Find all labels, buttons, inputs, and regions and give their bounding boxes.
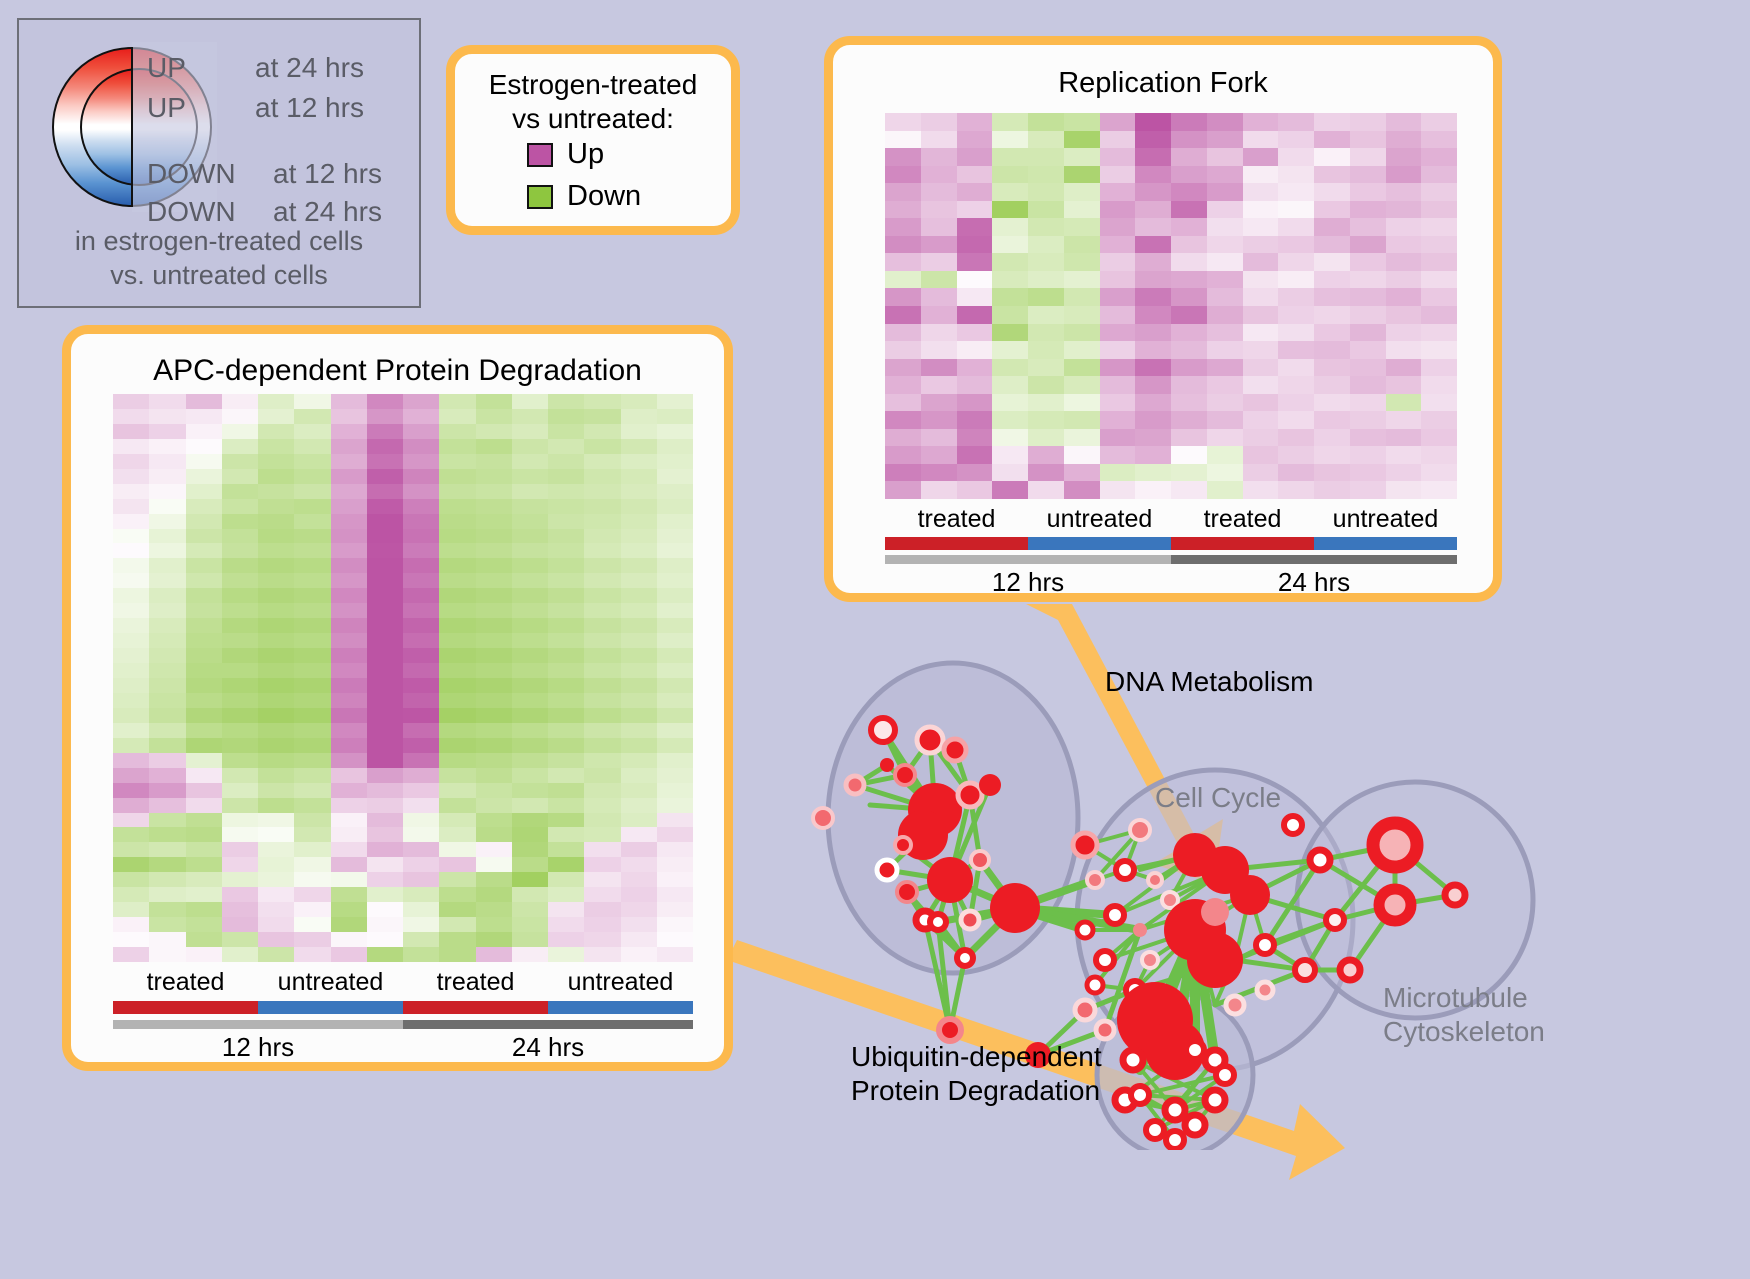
group-color-segment (258, 1001, 403, 1014)
heatmap-cell (113, 947, 149, 962)
heatmap-cell (476, 439, 512, 454)
heatmap-cell (1028, 218, 1064, 236)
heatmap-cell (149, 484, 185, 499)
heatmap-cell (476, 902, 512, 917)
heatmap-cell (1028, 201, 1064, 219)
heatmap-cell (476, 768, 512, 783)
heatmap-cell (1135, 148, 1171, 166)
heatmap-cell (476, 514, 512, 529)
heatmap-cell (1135, 218, 1171, 236)
heatmap-cell (403, 887, 439, 902)
heatmap-cell (258, 424, 294, 439)
heatmap-cell (113, 753, 149, 768)
heatmap-cell (957, 271, 993, 289)
heatmap-cell (657, 499, 693, 514)
heatmap-cell (222, 827, 258, 842)
heatmap-cell (149, 947, 185, 962)
heatmap-cell (957, 306, 993, 324)
heatmap-cell (584, 798, 620, 813)
heatmap-cell (584, 902, 620, 917)
heatmap-cell (657, 872, 693, 887)
heatmap-cell (1350, 359, 1386, 377)
heatmap-cell (621, 394, 657, 409)
heatmap-cell (439, 573, 475, 588)
heatmap-cell (584, 439, 620, 454)
heatmap-cell (1243, 253, 1279, 271)
heatmap-cell (186, 783, 222, 798)
heatmap-cell (512, 827, 548, 842)
heatmap-cell (1314, 429, 1350, 447)
heatmap-cell (1135, 324, 1171, 342)
heatmap-cell (222, 947, 258, 962)
heatmap-cell (113, 902, 149, 917)
heatmap-cell (1207, 253, 1243, 271)
heatmap-cell (113, 484, 149, 499)
heatmap-cell (1314, 376, 1350, 394)
cluster-label-ubiquitin-protein-degradation: Ubiquitin-dependent Protein Degradation (851, 1040, 1102, 1107)
heatmap-cell (885, 324, 921, 342)
heatmap-cell (476, 917, 512, 932)
heatmap-cell (621, 633, 657, 648)
heatmap-cell (331, 633, 367, 648)
heatmap-cell (1278, 201, 1314, 219)
heatmap-cell (1064, 411, 1100, 429)
heatmap-cell (476, 573, 512, 588)
heatmap-cell (186, 798, 222, 813)
heatmap-cell (403, 588, 439, 603)
heatmap-cell (992, 429, 1028, 447)
heatmap-cell (331, 499, 367, 514)
heatmap-cell (1171, 183, 1207, 201)
heatmap-cell (621, 798, 657, 813)
heatmap-cell (1386, 306, 1422, 324)
heatmap-cell (149, 857, 185, 872)
heatmap-cell (367, 543, 403, 558)
rf-group-colorbar (885, 537, 1457, 550)
heatmap-cell (113, 872, 149, 887)
heatmap-cell (294, 588, 330, 603)
heatmap-cell (548, 514, 584, 529)
heatmap-cell (476, 529, 512, 544)
heatmap-cell (331, 409, 367, 424)
heatmap-cell (1314, 253, 1350, 271)
heatmap-cell (1421, 376, 1457, 394)
heatmap-cell (367, 573, 403, 588)
colorbar-row-time-0: at 24 hrs (255, 52, 364, 84)
colorbar-row-label-3: DOWN (147, 196, 236, 228)
heatmap-cell (1064, 306, 1100, 324)
heatmap-cell (1135, 464, 1171, 482)
heatmap-cell (113, 394, 149, 409)
heatmap-cell (1064, 166, 1100, 184)
heatmap-cell (367, 603, 403, 618)
heatmap-cell (512, 454, 548, 469)
heatmap-cell (512, 902, 548, 917)
heatmap-cell (657, 887, 693, 902)
heatmap-cell (113, 663, 149, 678)
heatmap-cell (657, 439, 693, 454)
heatmap-cell (584, 633, 620, 648)
heatmap-cell (113, 424, 149, 439)
heatmap-cell (1207, 148, 1243, 166)
heatmap-cell (331, 917, 367, 932)
heatmap-cell (1314, 148, 1350, 166)
heatmap-cell (1100, 166, 1136, 184)
heatmap-cell (1421, 306, 1457, 324)
rf-group-labels: treateduntreatedtreateduntreated (885, 505, 1457, 534)
heatmap-cell (1207, 464, 1243, 482)
heatmap-cell (403, 708, 439, 723)
heatmap-cell (1100, 218, 1136, 236)
heatmap-cell (1028, 429, 1064, 447)
heatmap-cell (294, 633, 330, 648)
group-color-segment (403, 1001, 548, 1014)
heatmap-cell (113, 738, 149, 753)
heatmap-cell (294, 842, 330, 857)
heatmap-cell (294, 798, 330, 813)
heatmap-cell (512, 603, 548, 618)
heatmap-cell (1207, 131, 1243, 149)
heatmap-cell (294, 917, 330, 932)
heatmap-cell (1421, 341, 1457, 359)
heatmap-cell (657, 663, 693, 678)
heatmap-cell (548, 917, 584, 932)
heatmap-cell (331, 872, 367, 887)
heatmap-cell (439, 439, 475, 454)
heatmap-cell (1314, 446, 1350, 464)
heatmap-cell (294, 618, 330, 633)
heatmap-cell (476, 394, 512, 409)
heatmap-cell (149, 723, 185, 738)
heatmap-cell (331, 768, 367, 783)
heatmap-cell (149, 678, 185, 693)
heatmap-cell (476, 603, 512, 618)
heatmap-cell (657, 454, 693, 469)
heatmap-cell (1064, 446, 1100, 464)
heatmap-cell (367, 947, 403, 962)
heatmap-cell (367, 917, 403, 932)
heatmap-cell (921, 253, 957, 271)
heatmap-cell (113, 558, 149, 573)
heatmap-cell (921, 288, 957, 306)
heatmap-cell (294, 424, 330, 439)
heatmap-cell (1100, 201, 1136, 219)
heatmap-cell (149, 768, 185, 783)
heatmap-cell (367, 618, 403, 633)
heatmap-cell (885, 429, 921, 447)
heatmap-cell (885, 306, 921, 324)
heatmap-cell (992, 183, 1028, 201)
heatmap-cell (1278, 166, 1314, 184)
apc-group-labels: treateduntreatedtreateduntreated (113, 968, 693, 997)
heatmap-cell (621, 738, 657, 753)
heatmap-cell (1421, 183, 1457, 201)
heatmap-cell (1386, 324, 1422, 342)
apc-panel: APC-dependent Protein Degradation treate… (62, 325, 733, 1071)
heatmap-cell (149, 439, 185, 454)
heatmap-cell (1314, 201, 1350, 219)
heatmap-cell (1100, 376, 1136, 394)
heatmap-cell (1171, 324, 1207, 342)
heatmap-cell (476, 872, 512, 887)
heatmap-cell (149, 618, 185, 633)
heatmap-cell (1171, 148, 1207, 166)
heatmap-cell (1064, 236, 1100, 254)
heatmap-cell (1314, 166, 1350, 184)
heatmap-cell (439, 902, 475, 917)
heatmap-cell (885, 271, 921, 289)
heatmap-cell (222, 887, 258, 902)
heatmap-cell (331, 798, 367, 813)
replication-fork-heatmap (885, 113, 1457, 499)
heatmap-cell (1386, 236, 1422, 254)
heatmap-cell (222, 917, 258, 932)
heatmap-cell (1314, 236, 1350, 254)
heatmap-cell (1028, 113, 1064, 131)
heatmap-cell (1421, 324, 1457, 342)
heatmap-cell (476, 738, 512, 753)
heatmap-cell (258, 469, 294, 484)
heatmap-cell (548, 827, 584, 842)
heatmap-cell (1314, 464, 1350, 482)
heatmap-cell (1171, 166, 1207, 184)
heatmap-cell (657, 693, 693, 708)
heatmap-cell (258, 454, 294, 469)
heatmap-cell (258, 813, 294, 828)
heatmap-cell (149, 469, 185, 484)
heatmap-cell (186, 394, 222, 409)
heatmap-cell (885, 131, 921, 149)
heatmap-cell (512, 842, 548, 857)
heatmap-cell (439, 618, 475, 633)
heatmap-cell (584, 738, 620, 753)
heatmap-cell (584, 394, 620, 409)
heatmap-cell (957, 446, 993, 464)
heatmap-cell (921, 166, 957, 184)
heatmap-cell (403, 738, 439, 753)
heatmap-cell (367, 394, 403, 409)
heatmap-cell (1278, 183, 1314, 201)
heatmap-cell (113, 678, 149, 693)
time-label: 24 hrs (403, 1032, 693, 1063)
heatmap-cell (1028, 376, 1064, 394)
heatmap-cell (367, 753, 403, 768)
heatmap-cell (621, 499, 657, 514)
heatmap-cell (222, 663, 258, 678)
heatmap-cell (1207, 288, 1243, 306)
heatmap-cell (1421, 464, 1457, 482)
heatmap-cell (1421, 394, 1457, 412)
heatmap-cell (548, 947, 584, 962)
heatmap-cell (367, 484, 403, 499)
heatmap-cell (1207, 446, 1243, 464)
heatmap-cell (1171, 236, 1207, 254)
heatmap-cell (294, 663, 330, 678)
time-color-segment (885, 555, 1171, 564)
heatmap-cell (331, 514, 367, 529)
heatmap-cell (367, 857, 403, 872)
heatmap-cell (548, 454, 584, 469)
heatmap-cell (548, 753, 584, 768)
heatmap-cell (1100, 306, 1136, 324)
heatmap-cell (294, 529, 330, 544)
heatmap-cell (222, 738, 258, 753)
heatmap-cell (548, 469, 584, 484)
heatmap-cell (584, 723, 620, 738)
heatmap-cell (331, 842, 367, 857)
heatmap-cell (1171, 288, 1207, 306)
heatmap-cell (992, 236, 1028, 254)
colorbar-row-label-0: UP (147, 52, 186, 84)
heatmap-cell (403, 798, 439, 813)
heatmap-cell (403, 484, 439, 499)
heatmap-cell (1100, 183, 1136, 201)
heatmap-cell (113, 588, 149, 603)
heatmap-cell (548, 842, 584, 857)
heatmap-cell (439, 917, 475, 932)
heatmap-cell (621, 887, 657, 902)
heatmap-cell (367, 558, 403, 573)
heatmap-cell (439, 424, 475, 439)
heatmap-cell (1064, 429, 1100, 447)
heatmap-cell (657, 842, 693, 857)
heatmap-cell (222, 514, 258, 529)
heatmap-cell (1100, 359, 1136, 377)
heatmap-cell (921, 411, 957, 429)
heatmap-cell (1278, 324, 1314, 342)
heatmap-cell (512, 693, 548, 708)
heatmap-cell (258, 499, 294, 514)
cluster-label-microtubule-cytoskeleton: Microtubule Cytoskeleton (1383, 981, 1545, 1049)
heatmap-cell (885, 359, 921, 377)
heatmap-cell (222, 633, 258, 648)
heatmap-cell (992, 341, 1028, 359)
heatmap-cell (258, 618, 294, 633)
heatmap-cell (258, 723, 294, 738)
heatmap-cell (367, 798, 403, 813)
heatmap-cell (367, 708, 403, 723)
heatmap-cell (113, 499, 149, 514)
heatmap-cell (1421, 271, 1457, 289)
heatmap-cell (621, 648, 657, 663)
heatmap-cell (584, 663, 620, 678)
heatmap-cell (1207, 201, 1243, 219)
heatmap-cell (186, 484, 222, 499)
heatmap-cell (1135, 446, 1171, 464)
heatmap-cell (657, 484, 693, 499)
heatmap-cell (439, 783, 475, 798)
heatmap-cell (921, 376, 957, 394)
heatmap-cell (403, 663, 439, 678)
heatmap-cell (367, 902, 403, 917)
heatmap-cell (258, 558, 294, 573)
heatmap-cell (1207, 113, 1243, 131)
heatmap-cell (1207, 306, 1243, 324)
heatmap-cell (294, 499, 330, 514)
heatmap-cell (294, 947, 330, 962)
heatmap-cell (657, 813, 693, 828)
heatmap-cell (1350, 271, 1386, 289)
heatmap-cell (1278, 306, 1314, 324)
heatmap-cell (1243, 166, 1279, 184)
heatmap-cell (548, 932, 584, 947)
heatmap-cell (294, 648, 330, 663)
heatmap-cell (584, 827, 620, 842)
apc-time-colorbar (113, 1020, 693, 1029)
heatmap-cell (1028, 464, 1064, 482)
heatmap-cell (367, 738, 403, 753)
key-heading-line2: vs untreated: (455, 102, 731, 136)
heatmap-cell (294, 409, 330, 424)
heatmap-cell (1171, 271, 1207, 289)
heatmap-cell (512, 633, 548, 648)
heatmap-cell (992, 306, 1028, 324)
heatmap-cell (512, 618, 548, 633)
heatmap-cell (113, 827, 149, 842)
heatmap-cell (885, 183, 921, 201)
heatmap-cell (149, 424, 185, 439)
heatmap-cell (149, 394, 185, 409)
heatmap-cell (258, 514, 294, 529)
heatmap-cell (584, 588, 620, 603)
heatmap-cell (921, 359, 957, 377)
heatmap-cell (885, 113, 921, 131)
heatmap-cell (113, 708, 149, 723)
heatmap-cell (113, 439, 149, 454)
heatmap-cell (186, 454, 222, 469)
group-color-segment (1171, 537, 1314, 550)
heatmap-cell (548, 857, 584, 872)
colorbar-row-time-3: at 24 hrs (273, 196, 382, 228)
heatmap-cell (957, 464, 993, 482)
colorbar-row-time-2: at 12 hrs (273, 158, 382, 190)
heatmap-cell (186, 947, 222, 962)
heatmap-cell (113, 857, 149, 872)
heatmap-cell (367, 514, 403, 529)
heatmap-cell (1386, 446, 1422, 464)
heatmap-cell (1064, 271, 1100, 289)
heatmap-cell (548, 424, 584, 439)
heatmap-cell (512, 678, 548, 693)
heatmap-cell (657, 588, 693, 603)
heatmap-cell (1100, 429, 1136, 447)
heatmap-cell (476, 618, 512, 633)
heatmap-cell (1171, 359, 1207, 377)
heatmap-cell (512, 663, 548, 678)
heatmap-cell (512, 723, 548, 738)
heatmap-cell (186, 827, 222, 842)
heatmap-cell (331, 454, 367, 469)
heatmap-cell (584, 499, 620, 514)
heatmap-cell (548, 678, 584, 693)
heatmap-cell (512, 857, 548, 872)
heatmap-cell (657, 917, 693, 932)
heatmap-cell (149, 633, 185, 648)
heatmap-cell (657, 409, 693, 424)
heatmap-cell (258, 573, 294, 588)
heatmap-cell (258, 887, 294, 902)
heatmap-cell (1243, 446, 1279, 464)
heatmap-cell (222, 409, 258, 424)
heatmap-cell (439, 499, 475, 514)
heatmap-cell (1243, 113, 1279, 131)
heatmap-cell (512, 932, 548, 947)
heatmap-cell (476, 857, 512, 872)
heatmap-cell (403, 902, 439, 917)
heatmap-cell (1386, 218, 1422, 236)
heatmap-cell (657, 514, 693, 529)
heatmap-cell (186, 648, 222, 663)
